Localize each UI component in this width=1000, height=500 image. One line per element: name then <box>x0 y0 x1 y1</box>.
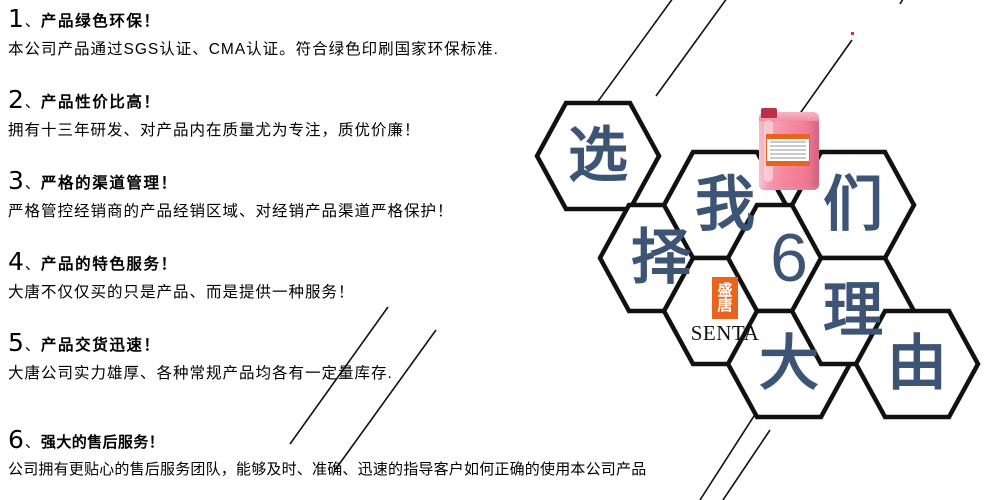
hex-cell-xuan[interactable]: 选 <box>534 100 662 212</box>
product-jerrycan-image <box>757 104 821 190</box>
brand-seal-icon: 盛 唐 <box>712 277 738 319</box>
hex-label: 由 <box>887 334 947 394</box>
honeycomb-graphic: 选 择 我 <box>0 0 1000 500</box>
hex-label: 我 <box>695 175 755 235</box>
brand-logo: 盛 唐 SENTA <box>691 277 759 346</box>
poster-canvas: 1 、 产品绿色环保！ 本公司产品通过SGS认证、CMA认证。符合绿色印刷国家环… <box>0 0 1000 500</box>
hex-label: 理 <box>823 281 883 341</box>
label-text-line <box>770 145 806 147</box>
hex-label: 大 <box>759 334 819 394</box>
hex-label: 择 <box>631 228 691 288</box>
label-text-line <box>770 153 806 155</box>
hex-label: 们 <box>823 175 883 235</box>
label-orange-band <box>767 161 809 165</box>
label-text-line <box>770 149 806 151</box>
brand-seal-char-bottom: 唐 <box>717 298 732 313</box>
label-text-line <box>770 141 806 143</box>
hex-label: 选 <box>568 126 628 186</box>
brand-wordmark: SENTA <box>691 321 759 346</box>
jerrycan-cap <box>761 108 777 118</box>
label-text-line <box>770 157 806 159</box>
label-orange-band <box>767 135 809 139</box>
hex-label: 6 <box>770 224 808 292</box>
jerrycan-label <box>766 134 810 166</box>
